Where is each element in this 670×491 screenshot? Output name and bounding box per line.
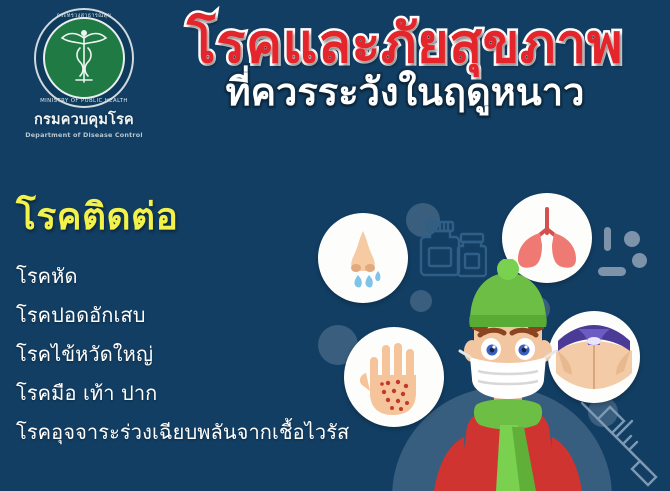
organization-logo: กระทรวงสาธารณสุข MINISTRY OF PUBLIC HEAL…	[14, 8, 154, 156]
logo-org-name-th: กรมควบคุมโรค	[14, 113, 154, 129]
poster-canvas: กระทรวงสาธารณสุข MINISTRY OF PUBLIC HEAL…	[0, 0, 670, 491]
sick-person-illustration	[408, 259, 608, 491]
runny-nose-icon	[318, 213, 408, 303]
poster-title: โรคและภัยสุขภาพ	[150, 16, 660, 71]
poster-subtitle: ที่ควรระวังในฤดูหนาว	[150, 73, 660, 113]
logo-org-name-en: Department of Disease Control	[14, 131, 154, 139]
tablet-icon	[632, 253, 647, 268]
headline-block: โรคและภัยสุขภาพ ที่ควรระวังในฤดูหนาว	[150, 16, 660, 113]
ministry-seal-icon: กระทรวงสาธารณสุข MINISTRY OF PUBLIC HEAL…	[34, 8, 134, 108]
illustration-area	[300, 175, 670, 491]
caduceus-icon	[46, 20, 122, 96]
section-heading: โรคติดต่อ	[16, 198, 178, 235]
capsule-icon	[604, 227, 611, 251]
tablet-icon	[624, 231, 640, 247]
